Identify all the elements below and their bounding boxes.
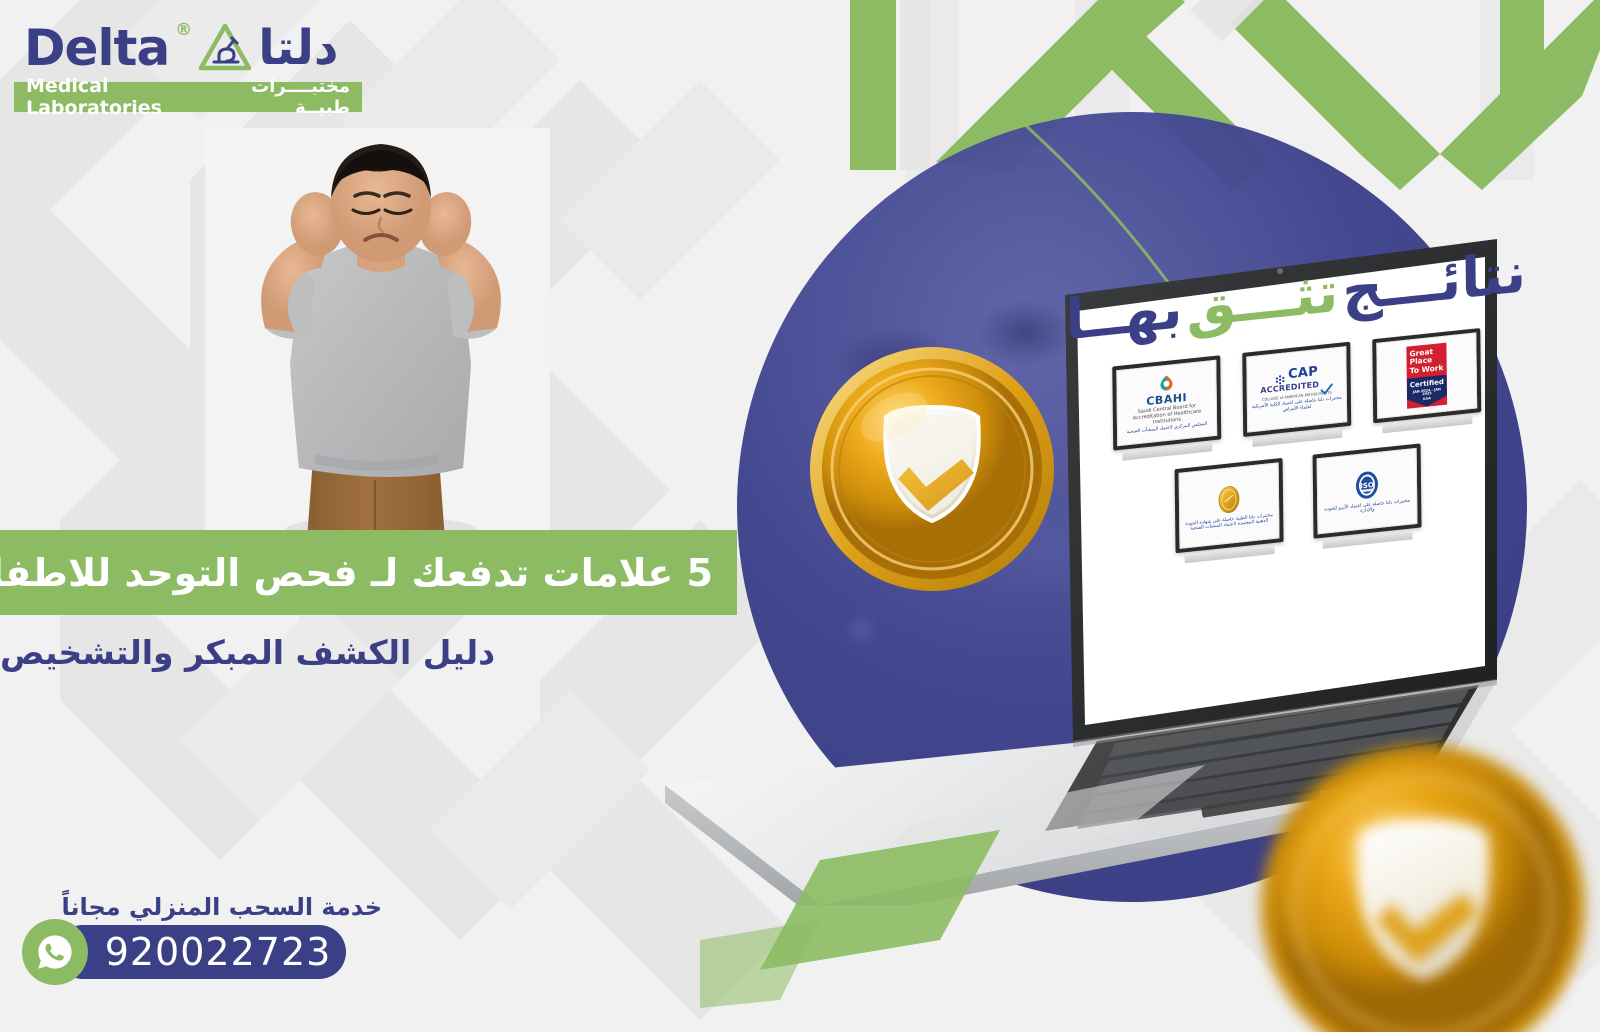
brand-logo[interactable]: Delta ® دلتا Medical Laboratories مختبــ… [14,16,374,116]
gold-coin-shield-check-blurred-icon [1258,742,1588,1032]
headline-banner: 5 علامات تدفعك لـ فحص التوحد للاطفال [0,530,737,615]
green-accent-shape [700,820,1120,1010]
logo-tagline-latin: Medical Laboratories [26,75,215,119]
logo-arabic-text: دلتا [258,24,338,72]
logo-latin-text: Delta [24,23,169,73]
subheadline-text: دليل الكشف المبكر والتشخيص [0,620,700,684]
headline-text: 5 علامات تدفعك لـ فحص التوحد للاطفال [0,551,713,595]
logo-tagline-strip: Medical Laboratories مختبــــرات طبيــة [14,82,362,112]
contact-caption: خدمة السحب المنزلي مجاناً [64,893,382,921]
contact-block: خدمة السحب المنزلي مجاناً 920022723 [22,893,402,1005]
phone-number[interactable]: 920022723 [105,933,332,971]
phone-pill[interactable]: 920022723 [56,925,346,979]
promo-banner: نتائـــج تثـــق بهــا CBAHI [0,0,1600,1032]
logo-tagline-arabic: مختبــــرات طبيــة [215,76,350,118]
hero-photo-boy-covering-ears [205,128,550,540]
whatsapp-icon[interactable] [22,919,88,985]
gold-coin-shield-check-icon [808,345,1056,593]
registered-trademark-icon: ® [175,20,192,40]
microscope-triangle-icon [198,22,252,74]
